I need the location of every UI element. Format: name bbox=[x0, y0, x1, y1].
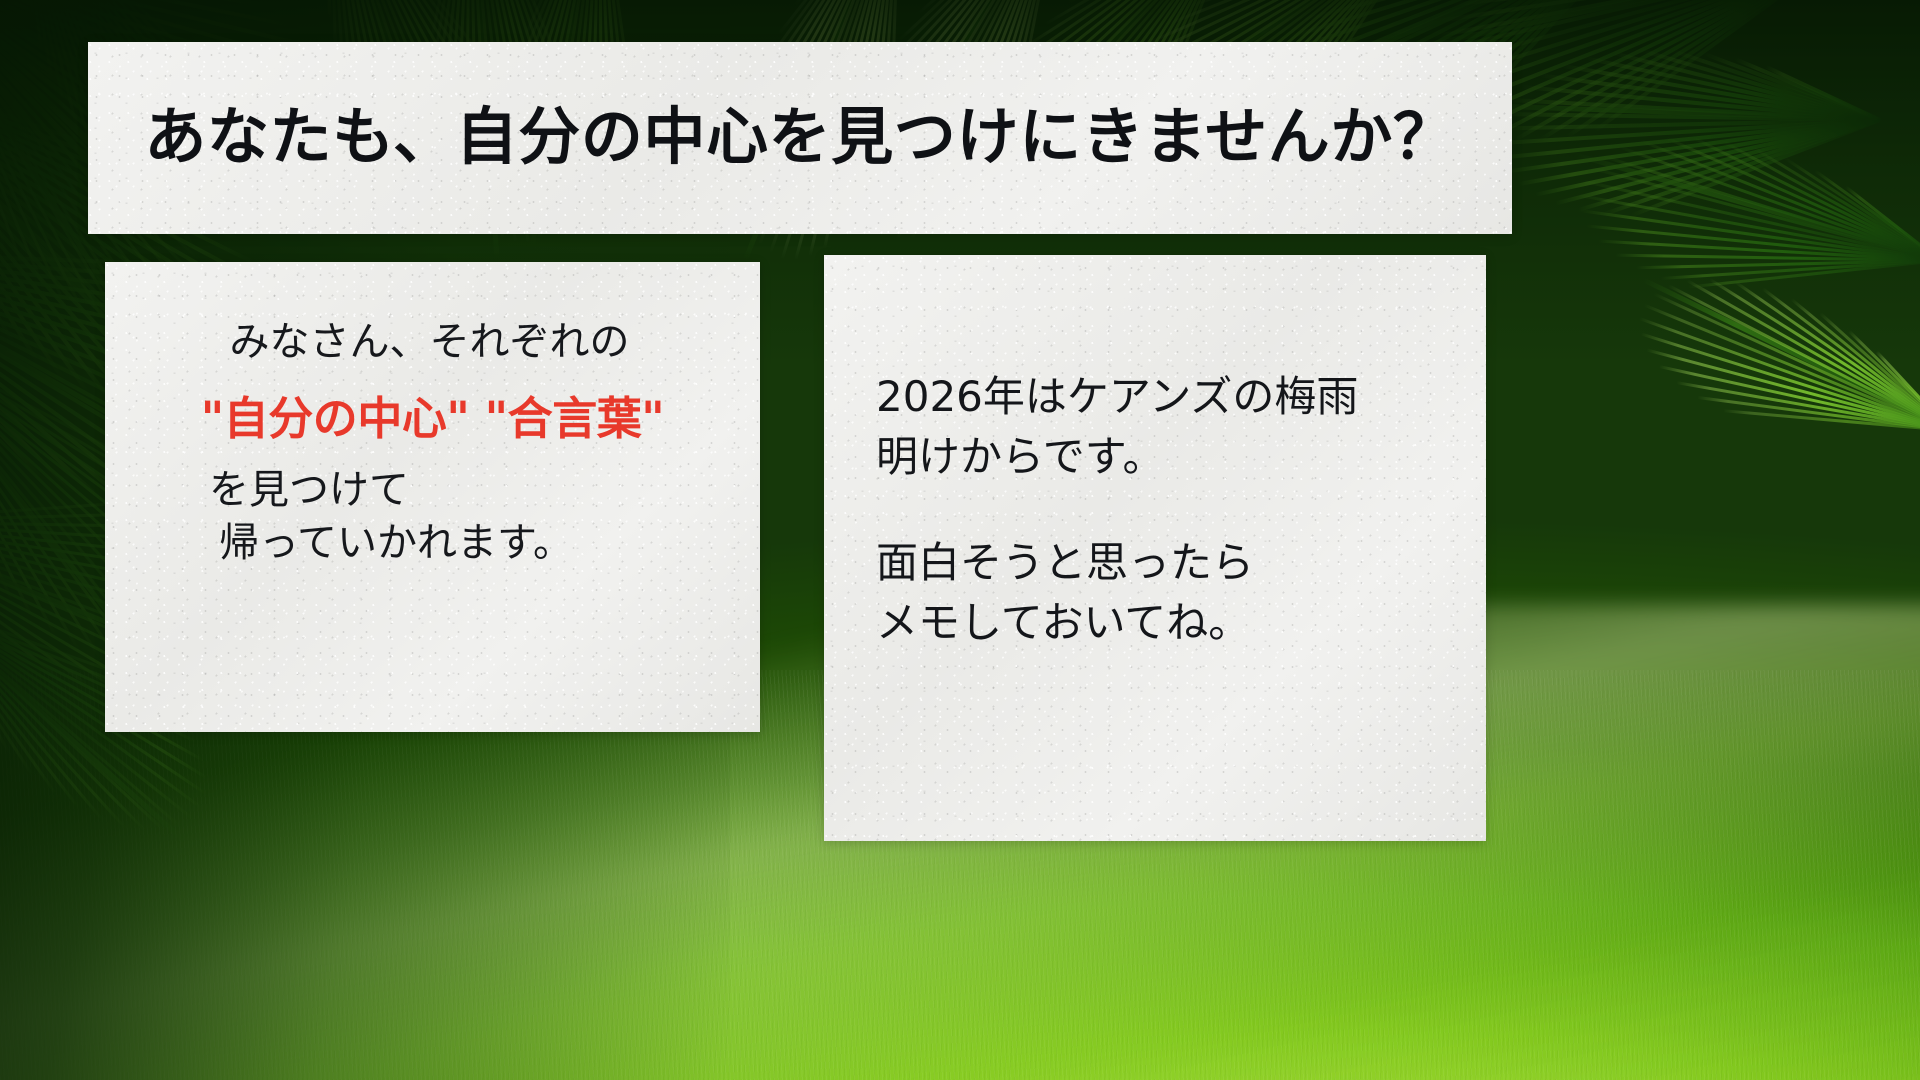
left-line-3: を見つけて bbox=[209, 464, 734, 517]
right-content-panel: 2026年はケアンズの梅雨 明けからです。 面白そうと思ったら メモしておいてね… bbox=[824, 255, 1486, 841]
title-panel: あなたも、自分の中心を見つけにきませんか？ bbox=[88, 42, 1512, 234]
left-line-4: 帰っていかれます。 bbox=[219, 517, 734, 570]
page-title: あなたも、自分の中心を見つけにきませんか？ bbox=[88, 104, 1512, 172]
left-line-1: みなさん、それぞれの bbox=[131, 316, 734, 369]
left-content-panel: みなさん、それぞれの "自分の中心" "合言葉" を見つけて 帰っていかれます。 bbox=[105, 262, 760, 732]
right-paragraph-spacer bbox=[876, 487, 1434, 533]
slide-canvas: あなたも、自分の中心を見つけにきませんか？ みなさん、それぞれの "自分の中心"… bbox=[0, 0, 1920, 1080]
right-p2-line-2: メモしておいてね。 bbox=[876, 593, 1434, 653]
right-p1-line-2: 明けからです。 bbox=[876, 427, 1434, 487]
left-content-text: みなさん、それぞれの "自分の中心" "合言葉" を見つけて 帰っていかれます。 bbox=[105, 316, 760, 570]
right-p2-line-1: 面白そうと思ったら bbox=[876, 533, 1434, 593]
left-line-highlight: "自分の中心" "合言葉" bbox=[131, 389, 734, 448]
right-content-text: 2026年はケアンズの梅雨 明けからです。 面白そうと思ったら メモしておいてね… bbox=[824, 367, 1486, 653]
right-p1-line-1: 2026年はケアンズの梅雨 bbox=[876, 367, 1434, 427]
